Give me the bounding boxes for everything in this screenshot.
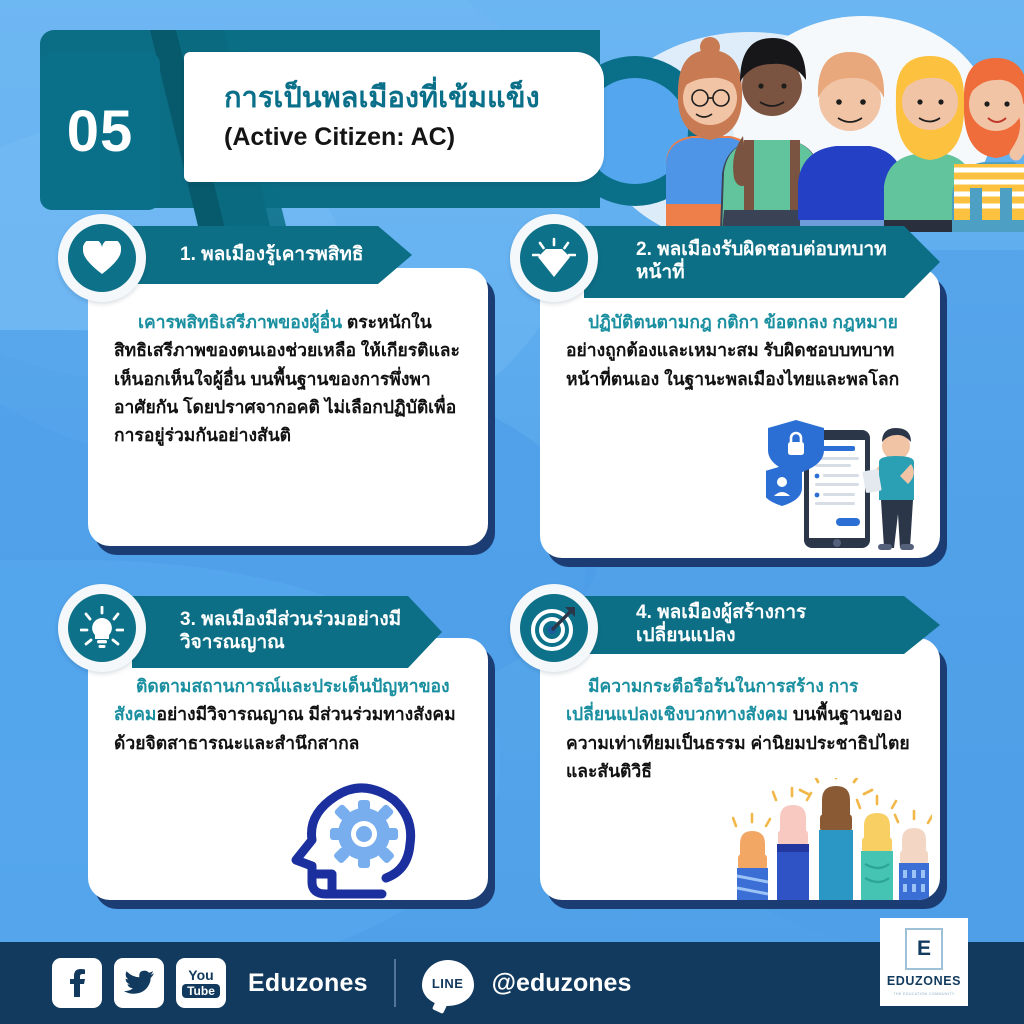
line-button[interactable]: LINE [422, 960, 474, 1006]
page-title-english: (Active Citizen: AC) [224, 123, 604, 152]
header-banner: 05 การเป็นพลเมืองที่เข้มแข็ง (Active Cit… [0, 22, 660, 212]
eduzones-logo: E EDUZONES THE EDUCATION COMMUNITY [880, 918, 968, 1006]
brand-name: Eduzones [248, 969, 368, 998]
card-3-icon-badge [58, 584, 146, 672]
line-handle: @eduzones [492, 969, 632, 998]
card-4-icon-badge [510, 584, 598, 672]
security-tablet-illustration [766, 414, 926, 554]
card-2-tab-label: 2. พลเมืองรับผิดชอบต่อบทบาทหน้าที่ [636, 239, 904, 285]
line-icon-label: LINE [432, 976, 464, 991]
card-1-description: ตระหนักในสิทธิเสรีภาพของตนเองช่วยเหลือ ใ… [114, 312, 460, 445]
card-3-tab-label: 3. พลเมืองมีส่วนร่วมอย่างมีวิจารณญาณ [180, 609, 408, 655]
card-3: ติดตามสถานการณ์และประเด็นปัญหาของสังคมอย… [88, 638, 488, 900]
section-number: 05 [67, 98, 134, 165]
youtube-icon-you: You [188, 968, 213, 982]
card-4: มีความกระตือรือร้นในการสร้าง การเปลี่ยนแ… [540, 638, 940, 900]
target-icon [520, 594, 588, 662]
head-with-gear-illustration [286, 782, 436, 900]
raised-fists-illustration [732, 778, 932, 900]
card-3-text: ติดตามสถานการณ์และประเด็นปัญหาของสังคมอย… [114, 672, 462, 757]
social-links: You Tube [52, 958, 226, 1008]
card-4-tab-label: 4. พลเมืองผู้สร้างการเปลี่ยนแปลง [636, 602, 904, 648]
facebook-icon [64, 969, 90, 997]
youtube-button[interactable]: You Tube [176, 958, 226, 1008]
card-4-body: มีความกระตือรือร้นในการสร้าง การเปลี่ยนแ… [540, 638, 940, 795]
card-1-highlight: เคารพสิทธิเสรีภาพของผู้อื่น [138, 312, 347, 332]
logo-letter-box: E [905, 928, 943, 970]
card-2-description: อย่างถูกต้องและเหมาะสม รับผิดชอบบทบาทหน้… [566, 340, 899, 388]
logo-tagline: THE EDUCATION COMMUNITY [893, 992, 954, 996]
card-1-body: เคารพสิทธิเสรีภาพของผู้อื่น ตระหนักในสิท… [88, 268, 488, 460]
facebook-button[interactable] [52, 958, 102, 1008]
logo-letter: E [917, 937, 931, 961]
card-3-description: อย่างมีวิจารณญาณ มีส่วนร่วมทางสังคมด้วยจ… [114, 704, 456, 752]
card-1-tab-label: 1. พลเมืองรู้เคารพสิทธิ [180, 244, 364, 267]
card-1: เคารพสิทธิเสรีภาพของผู้อื่น ตระหนักในสิท… [88, 268, 488, 546]
card-4-tab[interactable]: 4. พลเมืองผู้สร้างการเปลี่ยนแปลง [584, 596, 940, 654]
card-4-text: มีความกระตือรือร้นในการสร้าง การเปลี่ยนแ… [566, 672, 914, 785]
card-1-icon-badge [58, 214, 146, 302]
section-number-badge: 05 [40, 52, 160, 210]
twitter-button[interactable] [114, 958, 164, 1008]
card-2-highlight: ปฏิบัติตนตามกฎ กติกา ข้อตกลง กฎหมาย [588, 312, 898, 332]
header-title-card: การเป็นพลเมืองที่เข้มแข็ง (Active Citize… [184, 52, 604, 182]
twitter-icon [124, 970, 154, 996]
footer-bar: You Tube Eduzones LINE @eduzones [0, 942, 1024, 1024]
infographic-canvas: 05 การเป็นพลเมืองที่เข้มแข็ง (Active Cit… [0, 0, 1024, 1024]
diamond-icon [520, 224, 588, 292]
heart-icon [68, 224, 136, 292]
card-2: ปฏิบัติตนตามกฎ กติกา ข้อตกลง กฎหมาย อย่า… [540, 268, 940, 558]
card-2-icon-badge [510, 214, 598, 302]
card-3-tab[interactable]: 3. พลเมืองมีส่วนร่วมอย่างมีวิจารณญาณ [132, 596, 442, 668]
card-1-text: เคารพสิทธิเสรีภาพของผู้อื่น ตระหนักในสิท… [114, 308, 462, 450]
logo-wordmark: EDUZONES [887, 974, 961, 988]
footer-divider [394, 959, 396, 1007]
card-2-text: ปฏิบัติตนตามกฎ กติกา ข้อตกลง กฎหมาย อย่า… [566, 308, 914, 393]
youtube-icon-tube: Tube [182, 984, 220, 998]
group-of-people-illustration [648, 14, 1024, 232]
page-title-thai: การเป็นพลเมืองที่เข้มแข็ง [224, 82, 604, 115]
lightbulb-icon [68, 594, 136, 662]
card-2-tab[interactable]: 2. พลเมืองรับผิดชอบต่อบทบาทหน้าที่ [584, 226, 940, 298]
card-1-tab[interactable]: 1. พลเมืองรู้เคารพสิทธิ [132, 226, 412, 284]
